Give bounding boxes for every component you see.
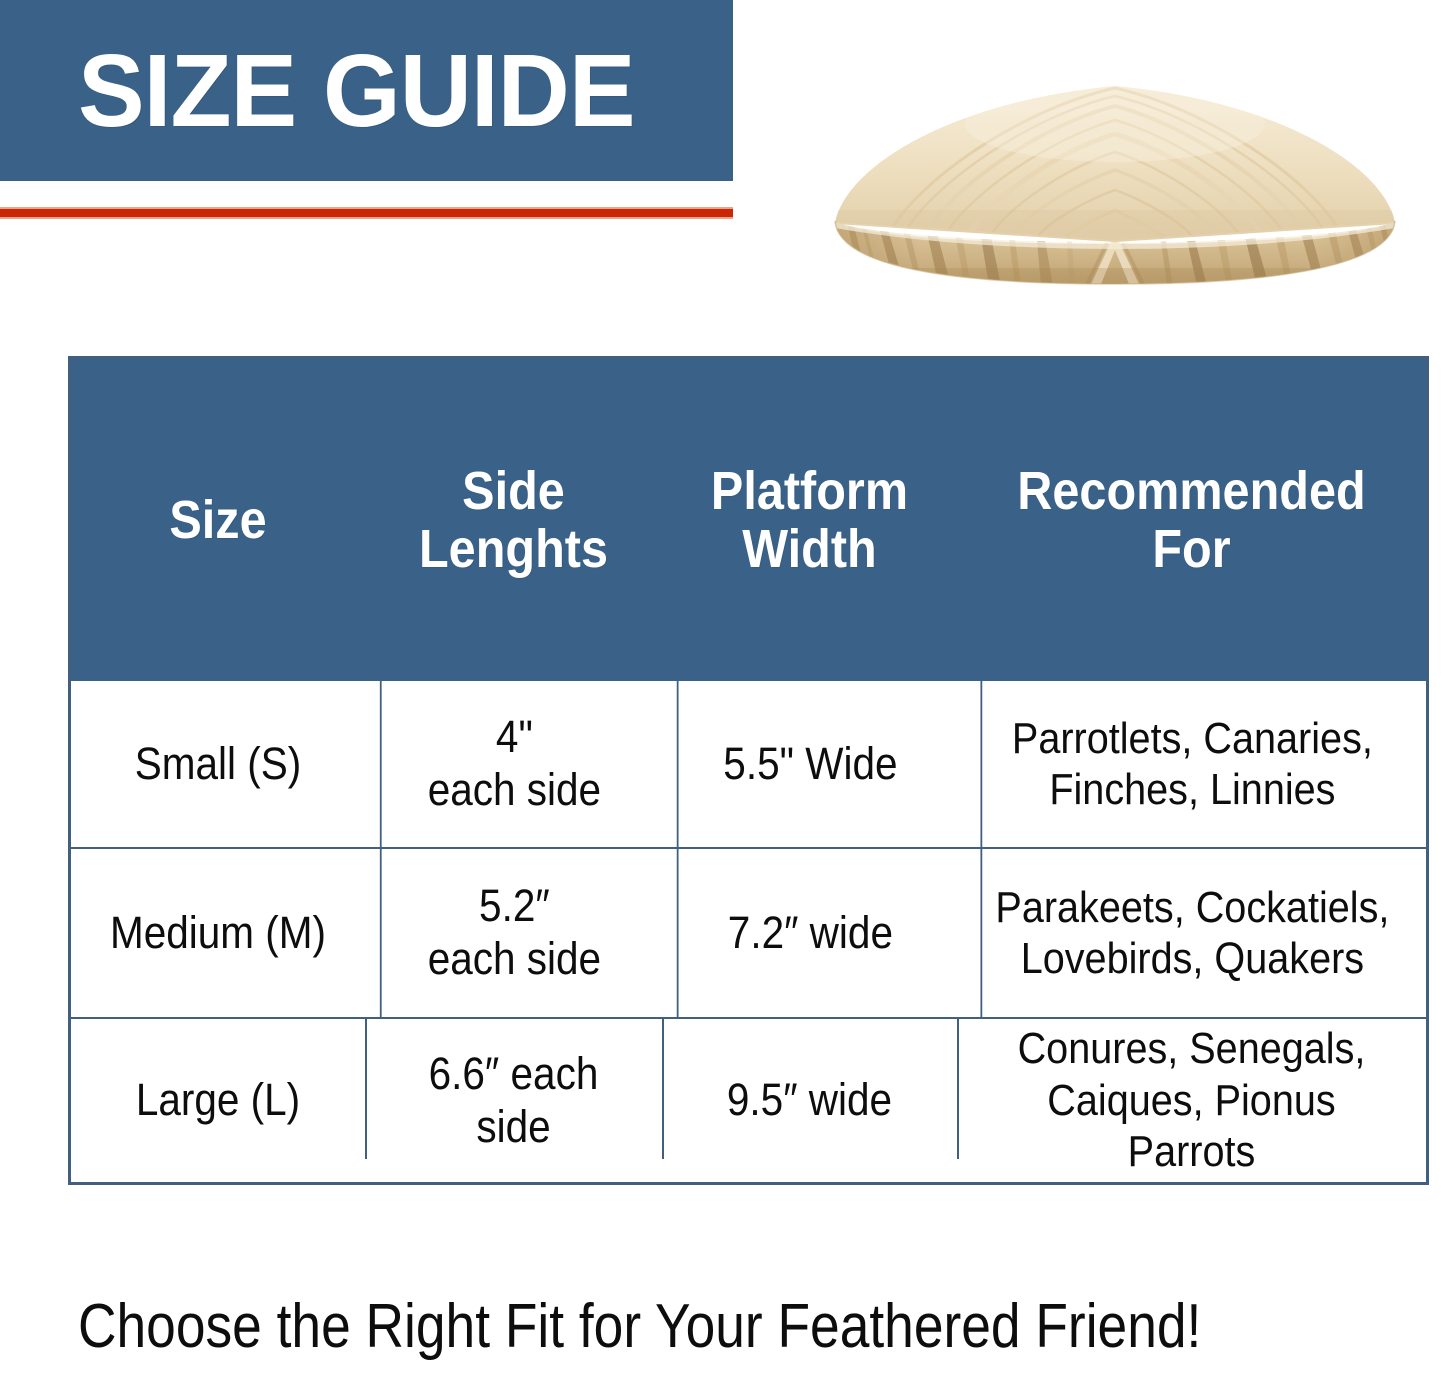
cell-side-lengths-line2: side xyxy=(476,1101,550,1152)
cell-side-lengths-value: 5.2″ each side xyxy=(428,880,601,985)
cell-platform-width: 5.5" Wide xyxy=(677,681,943,847)
cell-side-lengths-line1: 6.6″ each xyxy=(429,1048,599,1099)
row-divider xyxy=(365,1019,367,1159)
table-body: Small (S) 4" each side 5.5" Wide Parrotl… xyxy=(71,681,1426,1182)
column-header-side-lengths: Side Lenghts xyxy=(380,462,647,579)
column-header-size-label: Size xyxy=(169,490,266,550)
row-divider xyxy=(957,1019,959,1159)
column-header-side-lengths-line2: Lenghts xyxy=(419,519,608,579)
cell-platform-width-value: 5.5" Wide xyxy=(723,738,897,791)
table-row: Small (S) 4" each side 5.5" Wide Parrotl… xyxy=(71,681,1426,847)
size-guide-infographic: SIZE GUIDE xyxy=(0,0,1445,1382)
page-title: SIZE GUIDE xyxy=(78,39,635,142)
cell-side-lengths-line1: 4" xyxy=(496,711,533,762)
cell-size-value: Small (S) xyxy=(135,738,302,791)
cell-platform-width-value: 9.5″ wide xyxy=(727,1074,892,1127)
table-header-row: Size Side Lenghts Platform Width Recomme… xyxy=(71,359,1426,681)
banner-gap xyxy=(0,181,733,207)
cell-platform-width: 7.2″ wide xyxy=(677,849,943,1017)
column-header-recommended-for: Recommended For xyxy=(980,462,1402,579)
shelf-top-face xyxy=(835,86,1395,244)
table-row: Medium (M) 5.2″ each side 7.2″ wide Para… xyxy=(71,847,1426,1017)
cell-size: Medium (M) xyxy=(86,849,351,1017)
column-header-platform-width: Platform Width xyxy=(677,462,943,579)
cell-recommended-for-line1: Parrotlets, Canaries, xyxy=(1012,714,1373,763)
cell-side-lengths: 5.2″ each side xyxy=(380,849,647,1017)
column-header-platform-width-line1: Platform xyxy=(711,461,908,521)
cell-recommended-for: Parakeets, Cockatiels, Lovebirds, Quaker… xyxy=(980,849,1402,1017)
cell-side-lengths-line2: each side xyxy=(428,764,601,815)
column-header-platform-width-line2: Width xyxy=(742,519,877,579)
corner-shelf-illustration xyxy=(795,72,1435,287)
column-header-recommended-for-line2: For xyxy=(1152,519,1230,579)
cell-side-lengths: 6.6″ each side xyxy=(380,1019,647,1182)
cell-size: Large (L) xyxy=(86,1019,351,1182)
cell-size: Small (S) xyxy=(86,681,351,847)
cell-recommended-for-value: Parakeets, Cockatiels, Lovebirds, Quaker… xyxy=(995,882,1389,985)
product-photo-corner-shelf xyxy=(795,72,1435,287)
header-banner: SIZE GUIDE xyxy=(0,0,733,181)
table-row: Large (L) 6.6″ each side 9.5″ wide Conur… xyxy=(71,1017,1426,1182)
cell-side-lengths-line1: 5.2″ xyxy=(479,880,550,931)
cell-side-lengths-value: 4" each side xyxy=(428,711,601,816)
cell-recommended-for: Parrotlets, Canaries, Finches, Linnies xyxy=(980,681,1402,847)
cell-recommended-for-line2: Lovebirds, Quakers xyxy=(1021,934,1364,983)
cell-size-value: Medium (M) xyxy=(110,907,326,960)
accent-rule-red xyxy=(0,207,733,219)
cell-recommended-for-value: Conures, Senegals, Caiques, Pionus Parro… xyxy=(988,1023,1396,1177)
cell-recommended-for-line2: Caiques, Pionus Parrots xyxy=(1047,1076,1335,1176)
footer-tagline: Choose the Right Fit for Your Feathered … xyxy=(78,1296,1222,1358)
cell-recommended-for: Conures, Senegals, Caiques, Pionus Parro… xyxy=(980,1019,1402,1182)
cell-recommended-for-line2: Finches, Linnies xyxy=(1049,765,1335,814)
cell-side-lengths-value: 6.6″ each side xyxy=(429,1048,599,1153)
column-header-side-lengths-line1: Side xyxy=(462,461,565,521)
cell-recommended-for-line1: Conures, Senegals, xyxy=(1018,1024,1366,1073)
column-header-recommended-for-line1: Recommended xyxy=(1017,461,1365,521)
cell-recommended-for-line1: Parakeets, Cockatiels, xyxy=(995,883,1389,932)
cell-platform-width: 9.5″ wide xyxy=(677,1019,943,1182)
cell-platform-width-value: 7.2″ wide xyxy=(728,907,893,960)
cell-side-lengths-line2: each side xyxy=(428,933,601,984)
size-guide-table: Size Side Lenghts Platform Width Recomme… xyxy=(68,356,1429,1185)
cell-size-value: Large (L) xyxy=(136,1074,300,1127)
row-divider xyxy=(662,1019,664,1159)
cell-recommended-for-value: Parrotlets, Canaries, Finches, Linnies xyxy=(1012,713,1373,816)
column-header-size: Size xyxy=(86,491,351,549)
cell-side-lengths: 4" each side xyxy=(380,681,647,847)
